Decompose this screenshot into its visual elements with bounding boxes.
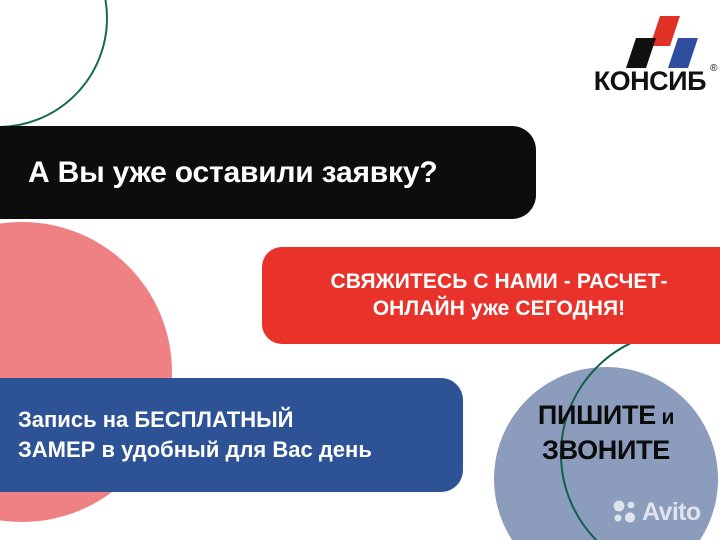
- question-banner: А Вы уже оставили заявку?: [0, 126, 536, 219]
- avito-watermark: Avito: [612, 499, 701, 525]
- question-banner-text: А Вы уже оставили заявку?: [28, 156, 437, 189]
- callout-text: ПИШИТЕ и ЗВОНИТЕ: [494, 398, 718, 467]
- contact-banner-line-2-strong-a: ОНЛАЙН: [373, 297, 465, 320]
- brand-logo: КОНСИБ ®: [580, 16, 706, 95]
- brand-wordmark-wrapper: КОНСИБ ®: [594, 68, 706, 95]
- contact-banner-line-1: СВЯЖИТЕСЬ С НАМИ - РАСЧЕТ-: [330, 270, 667, 293]
- contact-banner: СВЯЖИТЕСЬ С НАМИ - РАСЧЕТ- ОНЛАЙН уже СЕ…: [262, 247, 720, 344]
- registered-trademark-icon: ®: [710, 64, 717, 74]
- konsib-parallelogram-logo-icon: [580, 16, 706, 68]
- measure-banner: Запись на БЕСПЛАТНЫЙ ЗАМЕР в удобный для…: [0, 378, 463, 492]
- contact-banner-line-2-strong-b: СЕГОДНЯ!: [515, 297, 625, 320]
- contact-banner-text: СВЯЖИТЕСЬ С НАМИ - РАСЧЕТ- ОНЛАЙН уже СЕ…: [330, 269, 667, 323]
- brand-wordmark: КОНСИБ: [594, 66, 706, 96]
- avito-watermark-label: Avito: [642, 500, 701, 525]
- callout-line-2: ЗВОНИТЕ: [542, 435, 670, 465]
- callout-line-1-small: и: [656, 406, 674, 429]
- measure-banner-line-2: ЗАМЕР в удобный для Вас день: [18, 437, 372, 462]
- measure-banner-text: Запись на БЕСПЛАТНЫЙ ЗАМЕР в удобный для…: [18, 405, 372, 464]
- avito-dots-icon: [612, 499, 638, 525]
- measure-banner-line-1: Запись на БЕСПЛАТНЫЙ: [18, 407, 293, 432]
- callout-line-1-strong: ПИШИТЕ: [538, 400, 656, 430]
- promo-poster: КОНСИБ ® А Вы уже оставили заявку? СВЯЖИ…: [0, 0, 720, 540]
- contact-banner-line-2-soft: уже: [465, 297, 515, 320]
- decorative-ring-top-left-icon: [0, 0, 108, 128]
